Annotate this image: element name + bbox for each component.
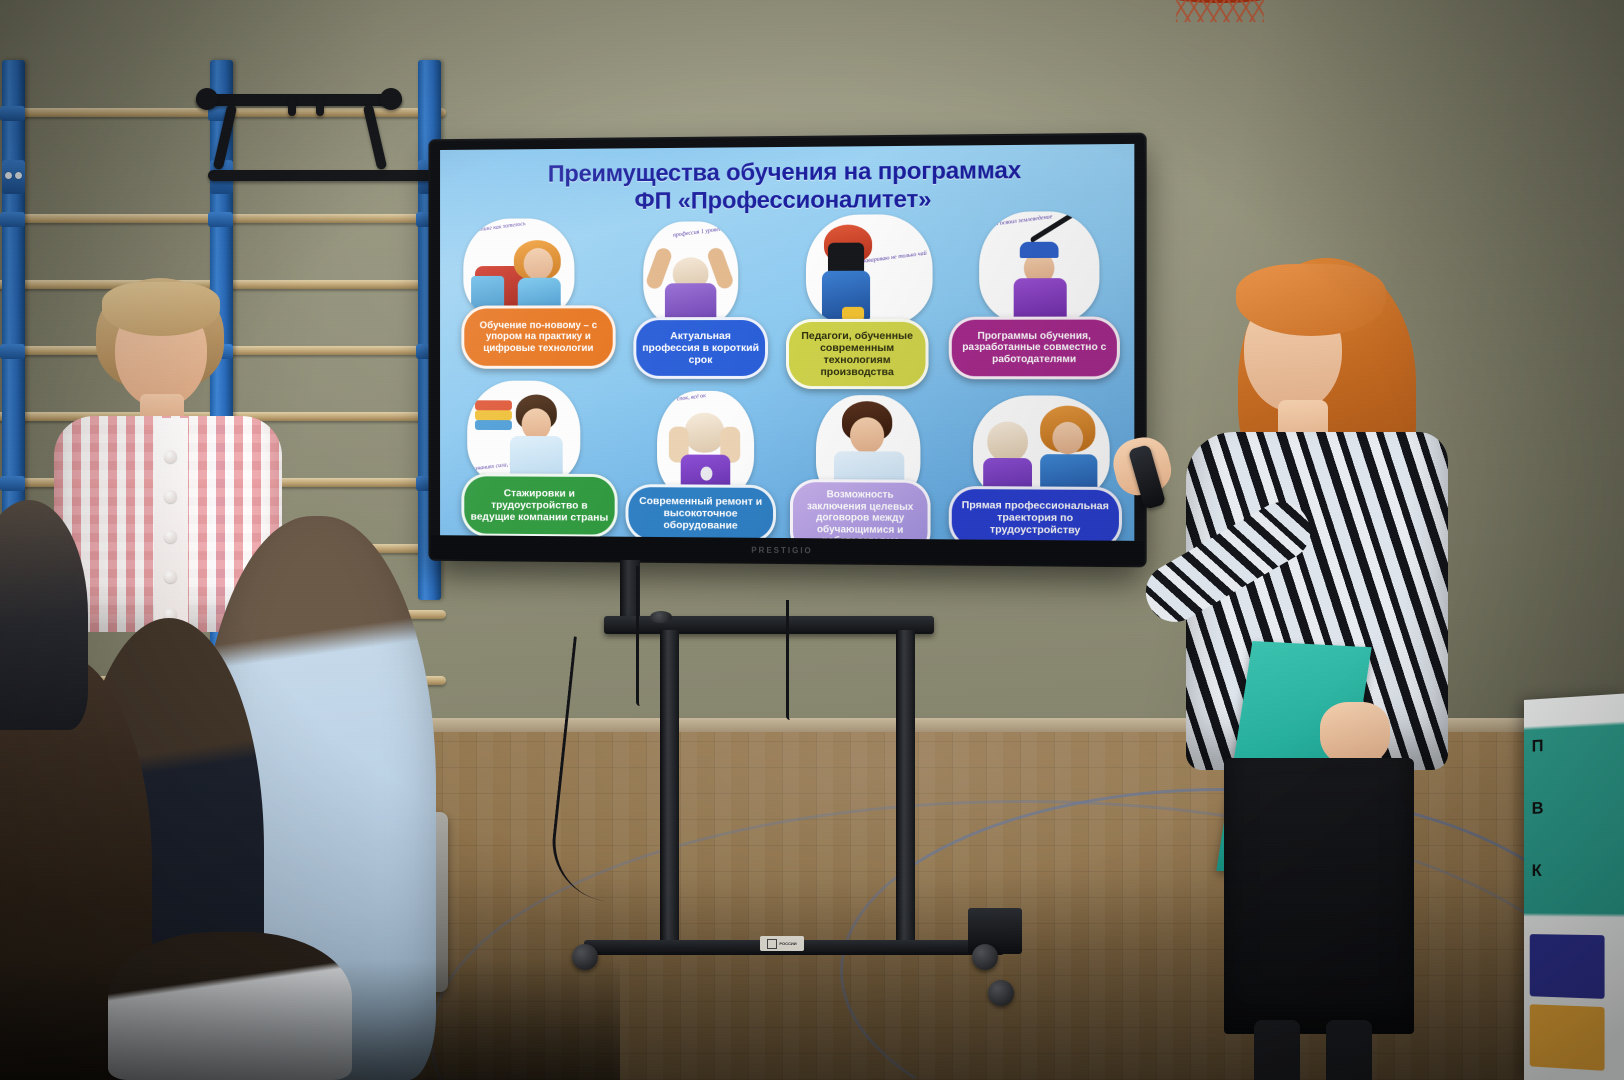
sticker-note-4: я освоил землеведение — [995, 214, 1053, 227]
slide-cards-area: рейтинг как хотелось Обучение по-новому … — [454, 211, 1122, 537]
slide-card-1-text: Обучение по-новому – с упором на практик… — [469, 320, 608, 355]
sticker-illustration-3: Завариваю не только чай — [806, 214, 933, 327]
slide-card-8[interactable]: Прямая профессиональная траектория по тр… — [949, 486, 1122, 541]
slide-card-5-text: Стажировки и трудоустройство в ведущие к… — [469, 487, 610, 524]
pull-up-bar — [196, 80, 446, 205]
photo-scene: Преимущества обучения на программах ФП «… — [0, 0, 1624, 1080]
slide-card-5[interactable]: Стажировки и трудоустройство в ведущие к… — [461, 473, 617, 537]
presenter-leg-left — [1254, 1020, 1300, 1080]
hockey-puck-object — [650, 611, 672, 623]
cart-made-in-russia-label: РОССИИ — [760, 936, 804, 951]
hoop-net — [1176, 0, 1264, 22]
slide-card-2[interactable]: Актуальная профессия в короткий срок — [633, 317, 768, 379]
rollup-banner: П В К — [1524, 693, 1624, 1080]
presenter-hair-bangs — [1236, 264, 1386, 336]
cart-label-text: РОССИИ — [779, 941, 796, 946]
sticker-illustration-5: в знаниях сила, бро! — [467, 381, 580, 488]
banner-line-2: В — [1532, 793, 1624, 822]
presenter-leg-right — [1326, 1020, 1372, 1080]
slide-card-3[interactable]: Педагоги, обученные современным технолог… — [786, 319, 929, 389]
power-cable-right — [786, 600, 790, 720]
banner-line-1: П — [1532, 729, 1624, 760]
slide-card-4[interactable]: Программы обучения, разработанные совмес… — [949, 317, 1120, 380]
slide-card-7[interactable]: Возможность заключения целевых договоров… — [790, 479, 931, 541]
cart-label-flag-icon — [767, 939, 777, 949]
sticker-note-2: профессия 1 уровень — [673, 226, 725, 239]
display-stand-leg-right — [896, 630, 915, 942]
slide-card-3-text: Педагоги, обученные современным технолог… — [794, 330, 920, 379]
display-brand-label: PRESTIGIO — [751, 546, 812, 556]
banner-tile-icon-1 — [1530, 934, 1605, 999]
caster-wheel — [972, 944, 998, 970]
slide-card-7-text: Возможность заключения целевых договоров… — [798, 489, 923, 541]
slide-title: Преимущества обучения на программах ФП «… — [440, 156, 1134, 218]
slide-card-8-text: Прямая профессиональная траектория по тр… — [957, 499, 1114, 537]
slide-card-1[interactable]: Обучение по-новому – с упором на практик… — [461, 305, 615, 369]
banner-tile-icon-2 — [1530, 1004, 1605, 1071]
caster-wheel — [572, 944, 598, 970]
sticker-note-1: рейтинг как хотелось — [471, 221, 526, 234]
basketball-hoop-icon — [1120, 0, 1320, 28]
display-screen[interactable]: Преимущества обучения на программах ФП «… — [440, 144, 1134, 541]
slide-card-6[interactable]: Современный ремонт и высокоточное оборуд… — [625, 484, 776, 541]
sticker-illustration-4: я освоил землеведение — [979, 211, 1099, 325]
sticker-note-6: спок, всё ок — [677, 393, 707, 402]
sticker-note-3: Завариваю не только чай — [862, 250, 929, 264]
presenter-skirt — [1224, 758, 1414, 1034]
left-woman-hair-front — [102, 282, 220, 336]
banner-line-3: К — [1532, 857, 1624, 884]
caster-wheel — [988, 980, 1014, 1006]
sticker-illustration-2: профессия 1 уровень — [643, 221, 738, 327]
display-stand-leg-left — [660, 630, 679, 942]
slide-card-4-text: Программы обучения, разработанные совмес… — [957, 330, 1112, 365]
audience-member-front-child — [108, 932, 352, 1080]
slide-card-2-text: Актуальная профессия в короткий срок — [641, 330, 760, 366]
presenter-right — [1128, 250, 1448, 1080]
presenter-hand-holding-folder — [1320, 702, 1390, 766]
slide-card-6-text: Современный ремонт и высокоточное оборуд… — [633, 495, 768, 532]
interactive-display-panel[interactable]: Преимущества обучения на программах ФП «… — [430, 135, 1144, 566]
